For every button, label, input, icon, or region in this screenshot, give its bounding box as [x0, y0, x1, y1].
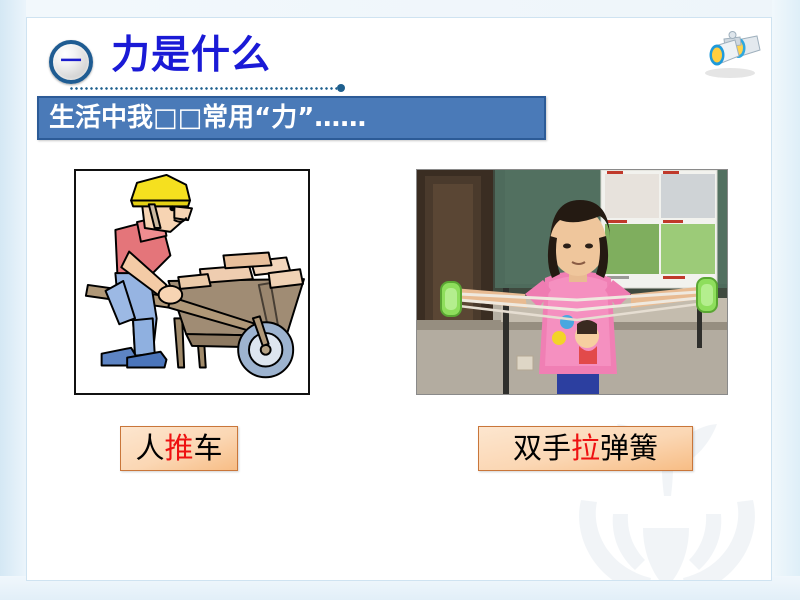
section-number-badge: 一 [49, 40, 93, 84]
page-title: 力是什么 [111, 36, 271, 75]
caption-left-part-1: 推 [164, 431, 193, 465]
figure-caption-left-text: 人推车 [135, 434, 222, 463]
section-number-label: 一 [61, 51, 82, 72]
binoculars-icon [697, 26, 763, 80]
caption-left-part-0: 人 [135, 431, 164, 465]
slide-edge-right [772, 0, 800, 600]
presentation-slide: 一 力是什么 生活中我□□常用“力”…… [0, 0, 800, 600]
subtitle-banner-label: 生活中我□□常用“力”…… [39, 105, 366, 131]
caption-right-part-0: 双手 [513, 431, 571, 465]
wheelbarrow-illustration [76, 171, 308, 393]
title-underline [69, 86, 345, 91]
caption-right-part-2: 弹簧 [600, 431, 658, 465]
figure-caption-right: 双手拉弹簧 [478, 426, 693, 471]
subtitle-banner: 生活中我□□常用“力”…… [37, 96, 546, 140]
slide-canvas: 一 力是什么 生活中我□□常用“力”…… [26, 17, 772, 581]
caption-right-part-1: 拉 [571, 431, 600, 465]
figure-caption-left: 人推车 [120, 426, 238, 471]
figure-caption-right-text: 双手拉弹簧 [513, 434, 658, 463]
girl-stretching-expander-photo [417, 170, 728, 395]
slide-edge-left [0, 0, 26, 600]
title-underline-end-dot [337, 84, 345, 92]
title-underline-dots [69, 87, 337, 90]
figure-image-right [416, 169, 728, 395]
caption-left-part-2: 车 [194, 431, 223, 465]
figure-image-left [74, 169, 310, 395]
